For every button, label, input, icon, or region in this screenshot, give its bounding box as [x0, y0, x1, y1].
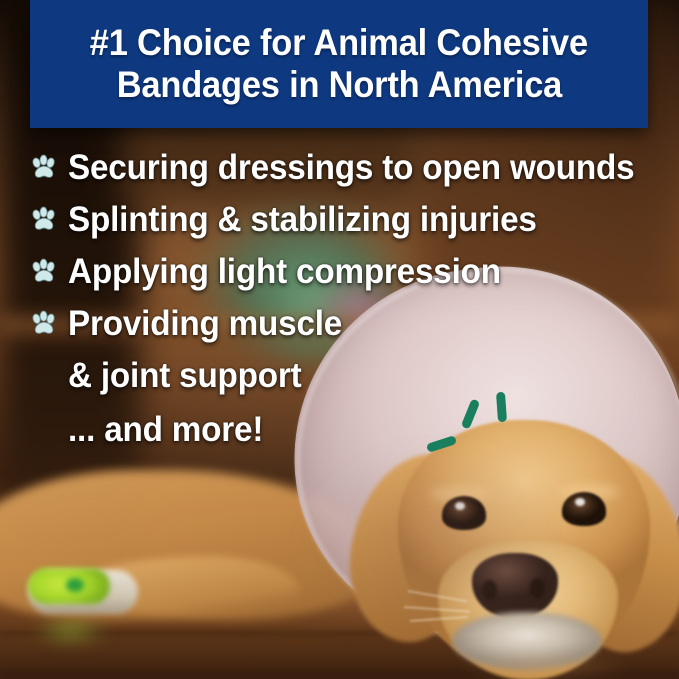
more-note-label: ... and more! — [68, 408, 263, 452]
green-toy-detail — [66, 578, 84, 592]
list-item: Securing dressings to open wounds — [30, 146, 670, 190]
product-feature-image: #1 Choice for Animal Cohesive Bandages i… — [0, 0, 679, 679]
headline-line-2: Bandages in North America — [116, 64, 561, 106]
paw-print-icon — [30, 310, 58, 338]
list-item-label: Applying light compression — [68, 250, 501, 294]
list-item: Splinting & stabilizing injuries — [30, 198, 670, 242]
headline-banner: #1 Choice for Animal Cohesive Bandages i… — [30, 0, 648, 128]
paw-print-icon — [30, 154, 58, 182]
feature-list: Securing dressings to open wounds Splint… — [30, 146, 670, 452]
list-item-continuation-label: & joint support — [68, 354, 302, 398]
list-item: Providing muscle — [30, 302, 670, 346]
list-item: Applying light compression — [30, 250, 670, 294]
indent-spacer — [30, 408, 68, 452]
list-item-label: Splinting & stabilizing injuries — [68, 198, 537, 242]
paw-print-icon — [30, 258, 58, 286]
toy-reflection — [30, 616, 120, 652]
headline-line-1: #1 Choice for Animal Cohesive — [90, 22, 588, 64]
list-item-label: Securing dressings to open wounds — [68, 146, 634, 190]
paw-print-icon — [30, 206, 58, 234]
list-item-label: Providing muscle — [68, 302, 342, 346]
indent-spacer — [30, 354, 68, 398]
list-item-continuation: & joint support — [30, 354, 670, 398]
more-note: ... and more! — [30, 408, 670, 452]
